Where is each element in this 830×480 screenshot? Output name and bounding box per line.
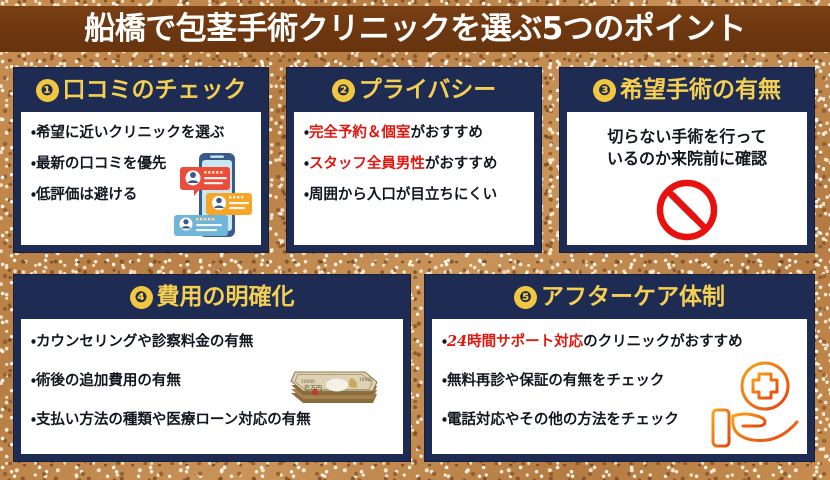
- bullet-text: のクリニックがおすすめ: [583, 334, 743, 350]
- point-card-2: ❷ プライバシー 完全予約＆個室がおすすめ スタッフ全員男性がおすすめ 周囲から…: [286, 67, 542, 253]
- bullet-text: 周囲から入口が目立ちにくい: [309, 187, 497, 203]
- card-5-header: ❺ アフターケア体制: [425, 275, 814, 319]
- bullet-highlight: スタッフ全員男性: [309, 156, 425, 172]
- card-3-body: 切らない手術を行って いるのか来院前に確認: [567, 112, 807, 245]
- point-card-1: ❶ 口コミのチェック 希望に近いクリニックを選ぶ 最新の口コミを優先 低評価は避…: [13, 67, 269, 253]
- card-3-number-badge: ❸: [593, 79, 616, 102]
- page-title: 船橋で包茎手術クリニックを選ぶ5つのポイント: [84, 14, 746, 45]
- card-2-header: ❷ プライバシー: [287, 68, 541, 112]
- list-item: カウンセリングや診察料金の有無: [31, 333, 403, 351]
- phone-reviews-icon: [173, 151, 255, 243]
- card-1-title: 口コミのチェック: [63, 79, 247, 102]
- bullet-text: がおすすめ: [410, 125, 483, 141]
- money-stack-icon: 10000 10000 壱万円: [285, 359, 381, 415]
- bullet-highlight: 完全予約＆個室: [309, 125, 411, 141]
- bullet-highlight: 時間サポート対応: [467, 334, 583, 350]
- point-card-5: ❺ アフターケア体制 24時間サポート対応のクリニックがおすすめ 無料再診や保証…: [424, 274, 815, 462]
- card-5-number-badge: ❺: [514, 286, 537, 309]
- title-banner: 船橋で包茎手術クリニックを選ぶ5つのポイント: [0, 6, 830, 52]
- card-3-text-line-2: いるのか来院前に確認: [575, 148, 799, 170]
- bullet-text: 低評価は避ける: [36, 187, 138, 203]
- card-4-header: ❹ 費用の明確化: [14, 275, 410, 319]
- card-1-header: ❶ 口コミのチェック: [14, 68, 268, 112]
- list-item: スタッフ全員男性がおすすめ: [304, 155, 534, 173]
- list-item: 周囲から入口が目立ちにくい: [304, 186, 534, 204]
- bullet-text: 無料再診や保証の有無をチェック: [447, 373, 665, 389]
- card-3-title: 希望手術の有無: [620, 79, 781, 102]
- bullet-text: 希望に近いクリニックを選ぶ: [36, 125, 225, 141]
- infographic-page: 船橋で包茎手術クリニックを選ぶ5つのポイント ❶ 口コミのチェック 希望に近いク…: [0, 0, 830, 480]
- card-1-body: 希望に近いクリニックを選ぶ 最新の口コミを優先 低評価は避ける: [21, 112, 261, 245]
- card-4-title: 費用の明確化: [157, 286, 295, 309]
- card-4-body: カウンセリングや診察料金の有無 術後の追加費用の有無 支払い方法の種類や医療ロー…: [21, 319, 403, 454]
- card-1-number-badge: ❶: [36, 79, 59, 102]
- bullet-text: がおすすめ: [425, 156, 498, 172]
- bullet-highlight-number: 24: [447, 333, 467, 350]
- hand-medical-cross-icon: [707, 358, 803, 454]
- list-item: 24時間サポート対応のクリニックがおすすめ: [442, 333, 807, 351]
- card-4-number-badge: ❹: [130, 286, 153, 309]
- point-card-3: ❸ 希望手術の有無 切らない手術を行って いるのか来院前に確認: [559, 67, 815, 253]
- card-3-header: ❸ 希望手術の有無: [560, 68, 814, 112]
- no-scalpel-icon: [567, 177, 807, 243]
- card-2-body: 完全予約＆個室がおすすめ スタッフ全員男性がおすすめ 周囲から入口が目立ちにくい: [294, 112, 534, 245]
- bullet-text: カウンセリングや診察料金の有無: [36, 334, 254, 350]
- svg-text:10000: 10000: [359, 377, 373, 383]
- bullet-text: 電話対応やその他の方法をチェック: [447, 412, 679, 428]
- card-2-title: プライバシー: [359, 79, 497, 102]
- card-5-body: 24時間サポート対応のクリニックがおすすめ 無料再診や保証の有無をチェック 電話…: [432, 319, 807, 454]
- card-2-bullet-list: 完全予約＆個室がおすすめ スタッフ全員男性がおすすめ 周囲から入口が目立ちにくい: [294, 112, 534, 204]
- card-3-text: 切らない手術を行って いるのか来院前に確認: [567, 112, 807, 169]
- list-item: 完全予約＆個室がおすすめ: [304, 124, 534, 142]
- bullet-text: 最新の口コミを優先: [36, 156, 167, 172]
- card-3-text-line-1: 切らない手術を行って: [575, 126, 799, 148]
- point-card-4: ❹ 費用の明確化 カウンセリングや診察料金の有無 術後の追加費用の有無 支払い方…: [13, 274, 411, 462]
- bullet-text: 術後の追加費用の有無: [36, 373, 181, 389]
- card-5-title: アフターケア体制: [541, 286, 725, 309]
- list-item: 希望に近いクリニックを選ぶ: [31, 124, 261, 142]
- card-2-number-badge: ❷: [332, 79, 355, 102]
- bullet-text: 支払い方法の種類や医療ローン対応の有無: [36, 412, 311, 428]
